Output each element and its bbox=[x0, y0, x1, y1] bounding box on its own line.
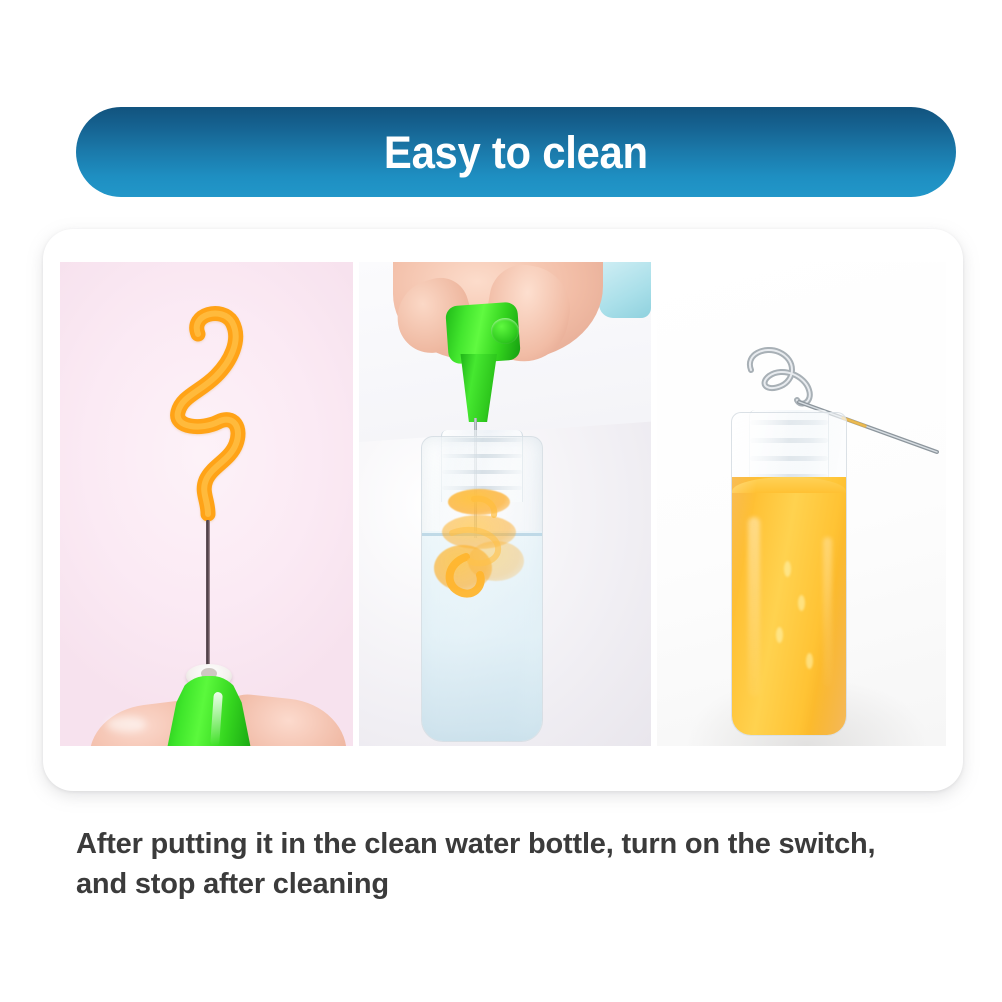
juice-surface bbox=[732, 477, 846, 493]
orange-juice bbox=[732, 477, 846, 735]
whisk-shaft bbox=[206, 520, 210, 672]
juice-speck bbox=[806, 653, 813, 669]
blue-object bbox=[599, 262, 651, 318]
juice-bottle bbox=[731, 412, 847, 736]
product-infographic: Easy to clean bbox=[0, 0, 1002, 1002]
juice-speck bbox=[798, 595, 805, 611]
power-switch bbox=[491, 318, 519, 344]
banner-title: Easy to clean bbox=[384, 130, 648, 175]
photo-strip bbox=[60, 262, 946, 746]
caption-line-1: After putting it in the clean water bott… bbox=[76, 824, 936, 864]
clear-water-bottle bbox=[421, 436, 543, 742]
finger-highlight bbox=[106, 716, 146, 732]
caption: After putting it in the clean water bott… bbox=[76, 824, 936, 904]
juice-speck bbox=[776, 627, 783, 643]
caption-line-2: and stop after cleaning bbox=[76, 864, 936, 904]
photo-panel-whisk-with-residue bbox=[60, 262, 353, 746]
photo-panel-clean-whisk-and-juice bbox=[657, 262, 946, 746]
juice-highlight bbox=[748, 517, 760, 697]
orange-residue-coil bbox=[156, 300, 266, 530]
juice-highlight bbox=[823, 537, 832, 687]
banner-header: Easy to clean bbox=[76, 107, 956, 197]
photo-panel-whisk-in-water-bottle bbox=[359, 262, 651, 746]
photo-card bbox=[43, 229, 963, 791]
juice-speck bbox=[784, 561, 791, 577]
